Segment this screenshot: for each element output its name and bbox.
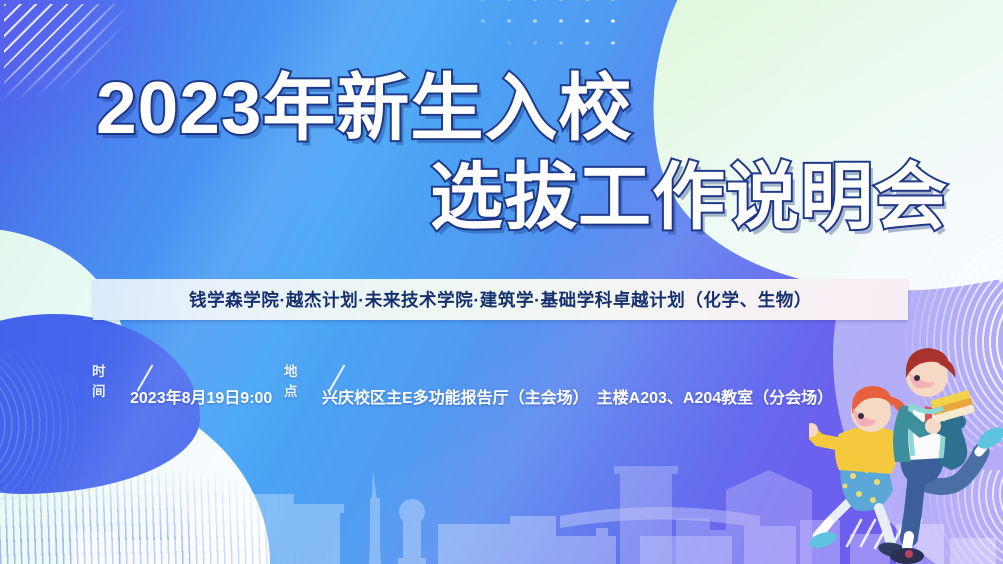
subtitle-text: 钱学森学院·越杰计划·未来技术学院·建筑学·基础学科卓越计划（化学、生物） <box>189 287 812 312</box>
title-line-2: 选拔工作说明会 <box>0 161 1003 234</box>
dot-grid-icon <box>470 0 620 62</box>
time-value: 2023年8月19日9:00 <box>130 384 272 408</box>
place-label: 地点 <box>284 360 303 400</box>
poster-title: 2023年新生入校 选拔工作说明会 <box>0 72 1003 234</box>
title-line-1: 2023年新生入校 <box>0 72 1003 145</box>
subtitle-bar: 钱学森学院·越杰计划·未来技术学院·建筑学·基础学科卓越计划（化学、生物） <box>93 279 908 320</box>
place-value: 兴庆校区主E多功能报告厅（主会场） 主楼A203、A204教室（分会场） <box>322 384 833 408</box>
time-label: 时间 <box>92 360 111 400</box>
running-students-illustration <box>809 324 1003 564</box>
event-poster-banner: 2023年新生入校 选拔工作说明会 钱学森学院·越杰计划·未来技术学院·建筑学·… <box>0 0 1003 564</box>
